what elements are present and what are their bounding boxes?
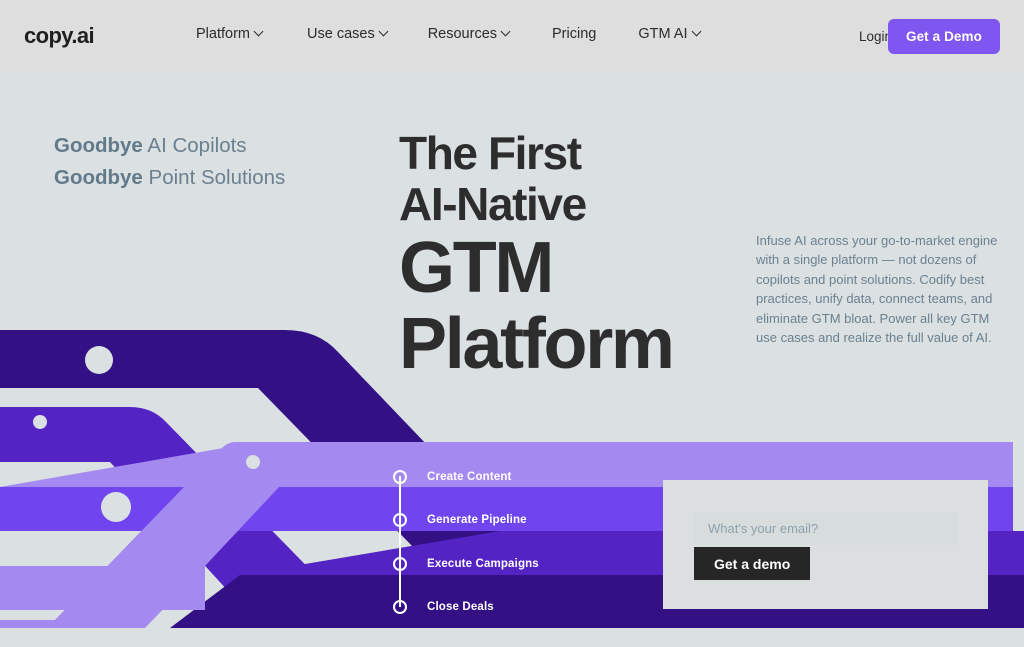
main-navigation: Platform Use cases Resources Pricing GTM… [196, 26, 701, 42]
headline-small-line-1: The First [399, 128, 673, 179]
tagline-rest-1: AI Copilots [143, 134, 247, 157]
nav-item-resources[interactable]: Resources [428, 26, 510, 42]
node-dot-large-mid [101, 492, 131, 522]
step-label: Close Deals [427, 601, 494, 613]
site-header: copy.ai Platform Use cases Resources Pri… [0, 0, 1024, 72]
pipeline-step-close-deals[interactable]: Close Deals [393, 586, 539, 630]
node-dot-small [33, 415, 47, 429]
hero-description-text: Infuse AI across your go-to-market engin… [756, 231, 1004, 347]
step-label: Generate Pipeline [427, 514, 527, 526]
nav-item-label: Use cases [307, 26, 375, 42]
nav-item-platform[interactable]: Platform [196, 26, 263, 42]
nav-item-label: GTM AI [638, 26, 687, 42]
nav-item-pricing[interactable]: Pricing [552, 26, 596, 42]
chevron-down-icon [380, 28, 388, 36]
nav-item-label: Resources [428, 26, 497, 42]
node-dot-large-top [85, 346, 113, 374]
pipeline-step-create-content[interactable]: Create Content [393, 455, 539, 499]
page-root: copy.ai Platform Use cases Resources Pri… [0, 0, 1024, 647]
pipeline-step-generate-pipeline[interactable]: Generate Pipeline [393, 499, 539, 543]
tagline-line-2: Goodbye Point Solutions [54, 162, 285, 194]
node-dot-small-junction [246, 455, 260, 469]
step-marker-icon [393, 470, 407, 484]
nav-item-gtm-ai[interactable]: GTM AI [638, 26, 700, 42]
nav-item-use-cases[interactable]: Use cases [307, 26, 388, 42]
headline-big-line-1: GTM [399, 230, 673, 306]
step-marker-icon [393, 557, 407, 571]
tagline-line-1: Goodbye AI Copilots [54, 130, 285, 162]
demo-signup-card: Get a demo [663, 480, 988, 609]
band-medium-leftpart [0, 487, 160, 531]
tagline-rest-2: Point Solutions [143, 166, 285, 189]
get-a-demo-button[interactable]: Get a Demo [888, 19, 1000, 54]
hero-headline: The First AI-Native GTM Platform [399, 128, 673, 382]
brand-logo[interactable]: copy.ai [24, 23, 94, 49]
pipeline-step-execute-campaigns[interactable]: Execute Campaigns [393, 542, 539, 586]
nav-item-label: Pricing [552, 26, 596, 42]
email-input[interactable] [694, 512, 959, 545]
nav-item-label: Platform [196, 26, 250, 42]
chevron-down-icon [255, 28, 263, 36]
bottom-strip [0, 628, 1024, 647]
headline-big-line-2: Platform [399, 306, 673, 382]
tagline-strong-1: Goodbye [54, 134, 143, 157]
step-label: Create Content [427, 471, 512, 483]
tagline-block: Goodbye AI Copilots Goodbye Point Soluti… [54, 130, 285, 194]
step-label: Execute Campaigns [427, 558, 539, 570]
chevron-down-icon [693, 28, 701, 36]
chevron-down-icon [502, 28, 510, 36]
pipeline-steps: Create Content Generate Pipeline Execute… [393, 455, 539, 629]
tagline-strong-2: Goodbye [54, 166, 143, 189]
step-marker-icon [393, 513, 407, 527]
headline-small-line-2: AI-Native [399, 179, 673, 230]
hero-description: Infuse AI across your go-to-market engin… [756, 231, 1004, 347]
step-marker-icon [393, 600, 407, 614]
pipeline-connector-line [399, 476, 401, 607]
card-get-a-demo-button[interactable]: Get a demo [694, 547, 810, 580]
